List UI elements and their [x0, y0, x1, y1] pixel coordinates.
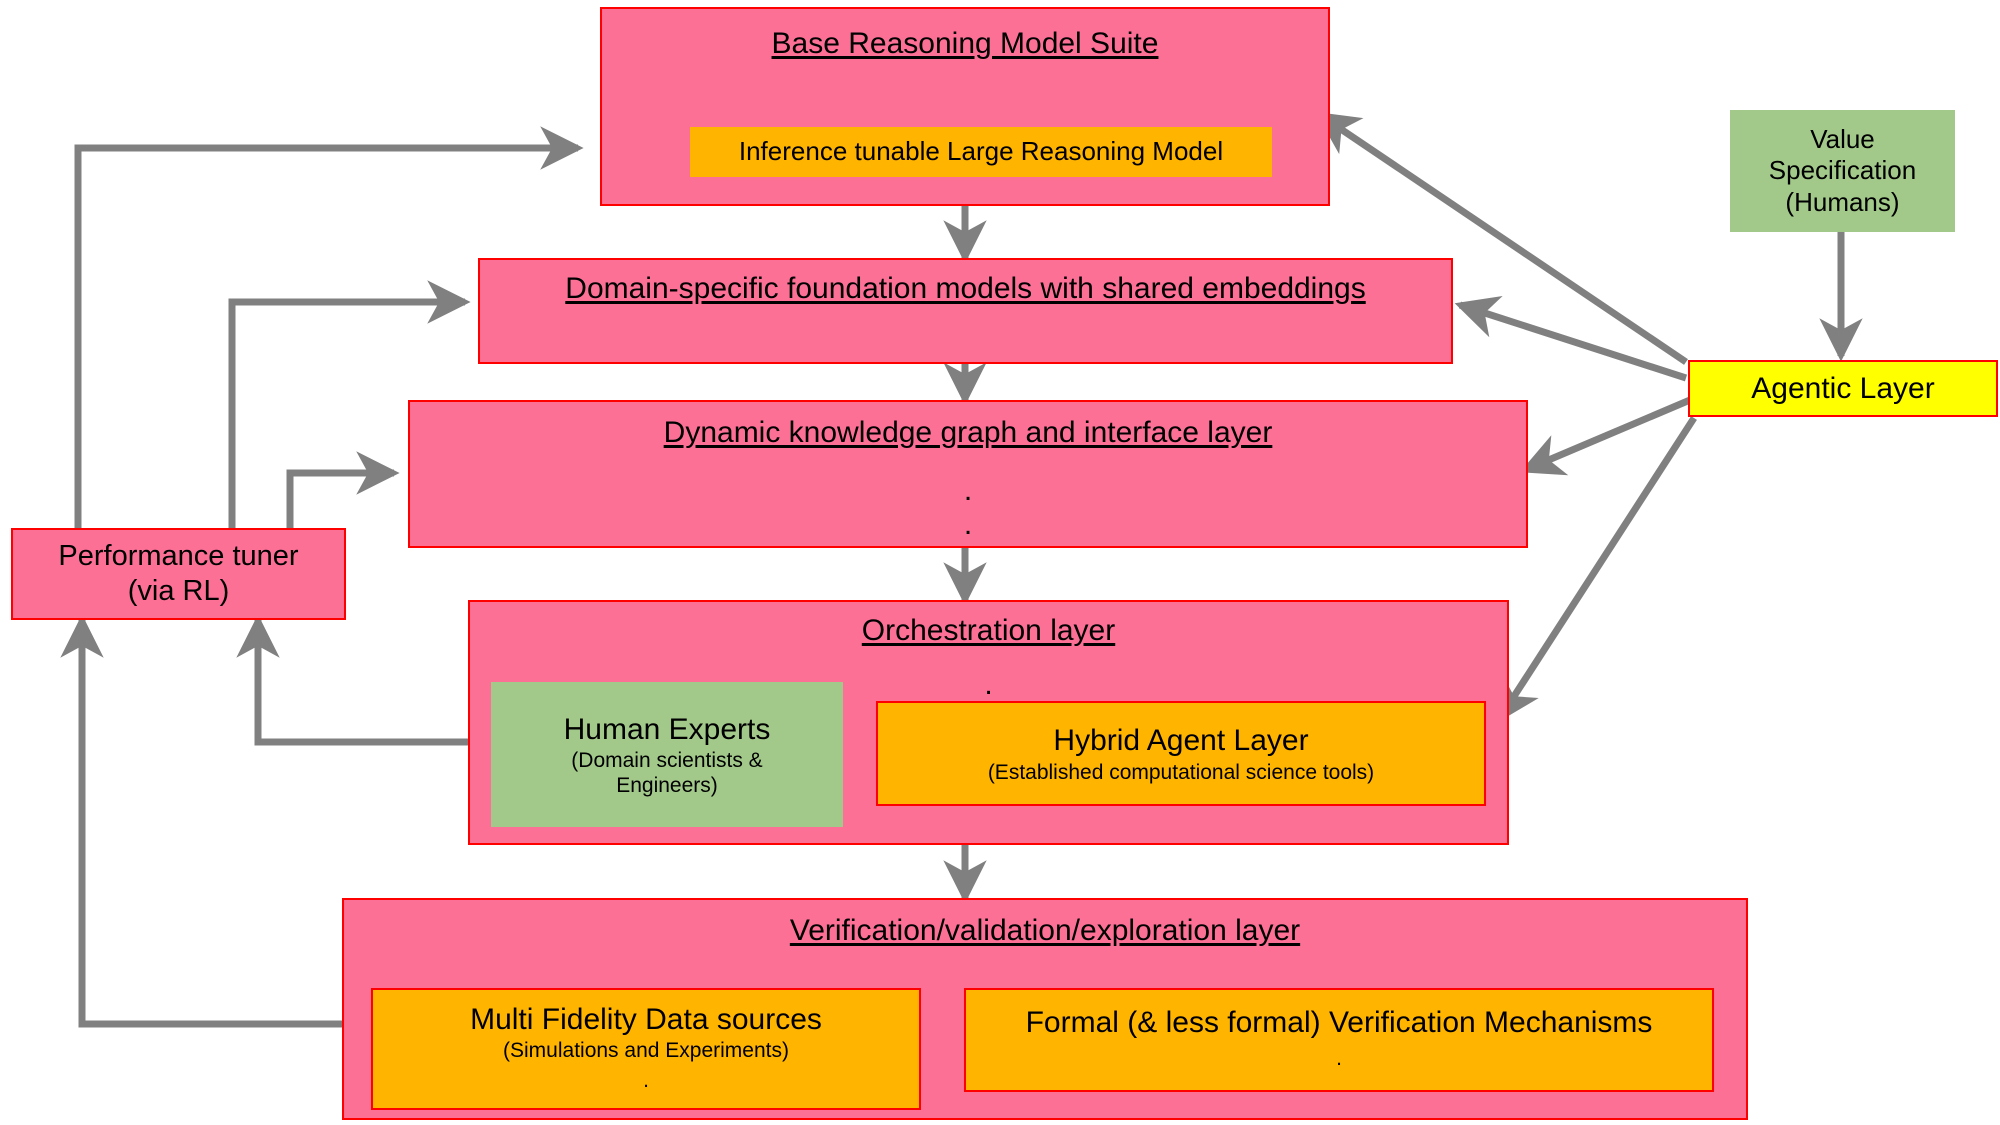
node-hybrid-agent-layer[interactable]: Hybrid Agent Layer (Established computat… — [876, 701, 1486, 806]
wire-tuner-to-kg — [290, 473, 394, 528]
formal-verification-dot: . — [1336, 1042, 1342, 1076]
domain-models-title: Domain-specific foundation models with s… — [480, 272, 1451, 307]
performance-tuner-sub: (via RL) — [128, 574, 230, 609]
node-domain-specific-foundation-models[interactable]: Domain-specific foundation models with s… — [478, 258, 1453, 364]
node-value-specification[interactable]: Value Specification (Humans) — [1730, 110, 1955, 232]
multi-fidelity-dot: . — [643, 1064, 649, 1098]
node-formal-verification-mechanisms[interactable]: Formal (& less formal) Verification Mech… — [964, 988, 1714, 1092]
performance-tuner-label: Performance tuner — [58, 539, 298, 574]
diagram-canvas: Base Reasoning Model Suite Inference tun… — [0, 0, 2000, 1125]
inner-inference-tunable-lrm[interactable]: Inference tunable Large Reasoning Model — [690, 127, 1272, 177]
agentic-layer-label: Agentic Layer — [1751, 370, 1934, 408]
knowledge-graph-dot-2: . — [410, 514, 1526, 537]
wire-orch-to-tuner — [258, 620, 468, 742]
value-specification-line-1: Value — [1810, 124, 1875, 155]
human-experts-sub-1: (Domain scientists & — [571, 748, 762, 773]
verification-title: Verification/validation/exploration laye… — [344, 914, 1746, 949]
multi-fidelity-sub: (Simulations and Experiments) — [503, 1038, 789, 1063]
node-human-experts[interactable]: Human Experts (Domain scientists & Engin… — [491, 682, 843, 827]
value-specification-line-2: Specification — [1769, 155, 1916, 186]
hybrid-agent-layer-sub: (Established computational science tools… — [988, 760, 1374, 785]
node-agentic-layer[interactable]: Agentic Layer — [1688, 360, 1998, 417]
value-specification-line-3: (Humans) — [1785, 187, 1899, 218]
node-multi-fidelity-data-sources[interactable]: Multi Fidelity Data sources (Simulations… — [371, 988, 921, 1110]
hybrid-agent-layer-label: Hybrid Agent Layer — [1053, 722, 1308, 760]
node-orchestration-layer[interactable]: Orchestration layer . Human Experts (Dom… — [468, 600, 1509, 845]
wire-verif-to-tuner — [82, 620, 342, 1024]
formal-verification-label: Formal (& less formal) Verification Mech… — [1026, 1004, 1653, 1042]
node-verification-layer[interactable]: Verification/validation/exploration laye… — [342, 898, 1748, 1120]
node-dynamic-knowledge-graph[interactable]: Dynamic knowledge graph and interface la… — [408, 400, 1528, 548]
multi-fidelity-label: Multi Fidelity Data sources — [470, 1001, 822, 1039]
orchestration-title: Orchestration layer — [470, 614, 1507, 649]
human-experts-sub-2: Engineers) — [616, 773, 718, 798]
knowledge-graph-title: Dynamic knowledge graph and interface la… — [410, 416, 1526, 451]
wire-agentic-to-orch — [1500, 418, 1694, 718]
node-performance-tuner[interactable]: Performance tuner (via RL) — [11, 528, 346, 620]
knowledge-graph-dot-1: . — [410, 480, 1526, 503]
base-reasoning-title: Base Reasoning Model Suite — [602, 27, 1328, 62]
inference-tunable-lrm-label: Inference tunable Large Reasoning Model — [739, 136, 1223, 167]
node-base-reasoning-model-suite[interactable]: Base Reasoning Model Suite Inference tun… — [600, 7, 1330, 206]
human-experts-label: Human Experts — [564, 711, 771, 749]
